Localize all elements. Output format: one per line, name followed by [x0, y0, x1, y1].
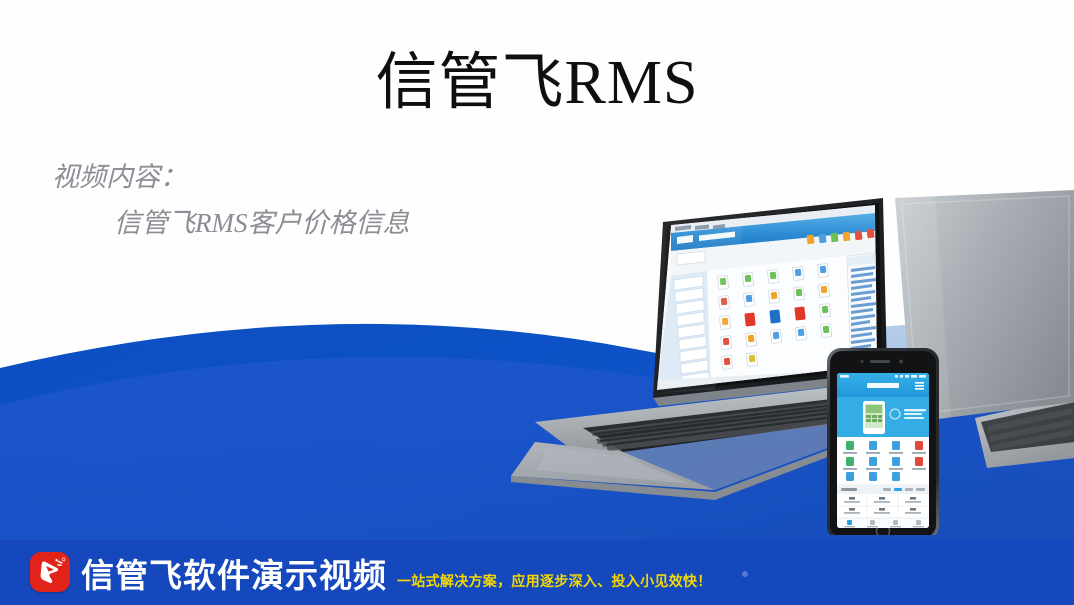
- subtitle-line-1: 视频内容：: [52, 158, 409, 196]
- phone-app-title: [867, 383, 899, 388]
- bottom-banner: 信管飞软件演示视频 一站式解决方案，应用逐步深入、投入小见效快！: [0, 540, 1074, 605]
- banner-decor-dot: [742, 571, 748, 577]
- slide-canvas: 信管飞RMS 视频内容： 信管飞RMS客户价格信息 信管飞软件演示视频: [0, 0, 1074, 605]
- phone-device: [827, 348, 939, 535]
- banner-tagline: 一站式解决方案，应用逐步深入、投入小见效快！: [397, 572, 712, 590]
- phone-screen-app: [837, 373, 929, 528]
- subtitle-block: 视频内容： 信管飞RMS客户价格信息: [52, 158, 409, 242]
- page-title: 信管飞RMS: [0, 46, 1074, 120]
- banner-title: 信管飞软件演示视频: [81, 558, 387, 594]
- hamburger-menu-icon: [915, 382, 924, 390]
- subtitle-line-2: 信管飞RMS客户价格信息: [52, 204, 409, 242]
- device-photo-group: [415, 190, 1074, 535]
- banner-content: 信管飞软件演示视频 一站式解决方案，应用逐步深入、投入小见效快！: [0, 552, 712, 594]
- xinguanfei-bird-logo-icon: [30, 552, 70, 592]
